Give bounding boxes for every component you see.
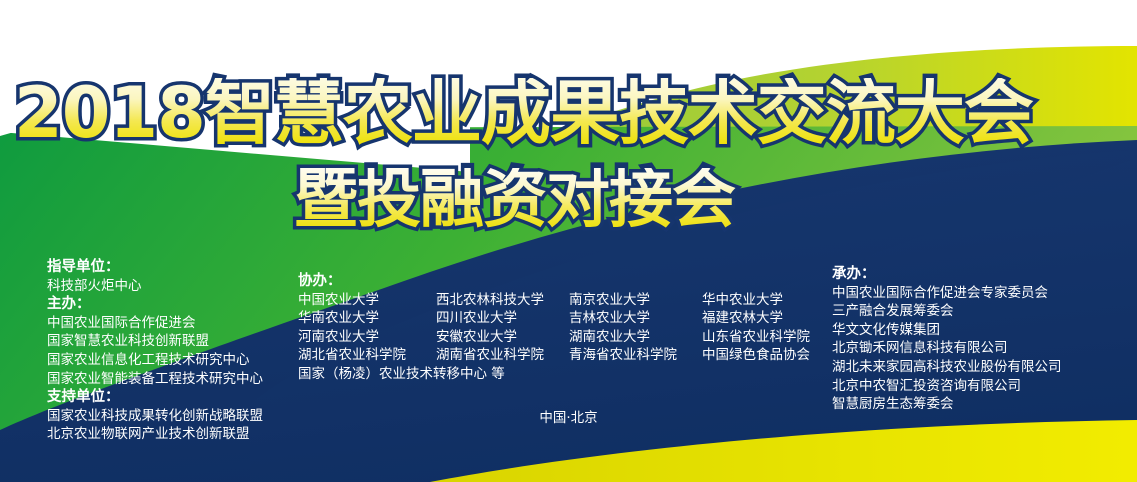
host-item: 国家智慧农业科技创新联盟 (47, 332, 263, 351)
undertaker-item: 中国农业国际合作促进会专家委员会 (832, 284, 1062, 303)
co-organizer-item: 中国绿色食品协会 (702, 346, 810, 365)
co-organizer-item: 中国农业大学 (298, 291, 436, 310)
undertaker-heading: 承办： (832, 265, 1062, 284)
co-organizer-item: 西北农林科技大学 (436, 291, 569, 310)
co-organizer-grid: 中国农业大学 西北农林科技大学 南京农业大学 华中农业大学 华南农业大学 四川农… (298, 291, 810, 384)
co-organizer-item: 华中农业大学 (702, 291, 810, 310)
host-item: 国家农业信息化工程技术研究中心 (47, 351, 263, 370)
co-organizers-column: 协办： 中国农业大学 西北农林科技大学 南京农业大学 华中农业大学 华南农业大学… (298, 272, 810, 384)
undertaker-item: 北京锄禾网信息科技有限公司 (832, 339, 1062, 358)
co-organizer-item: 华南农业大学 (298, 309, 436, 328)
co-organizer-item: 湖南农业大学 (569, 328, 702, 347)
host-heading: 主办： (47, 295, 263, 314)
co-organizer-heading: 协办： (298, 272, 810, 291)
support-unit-heading: 支持单位： (47, 388, 263, 407)
city-line: 中国·北京 (0, 406, 1137, 426)
co-organizer-item: 河南农业大学 (298, 328, 436, 347)
undertaker-item: 湖北未来家园高科技农业股份有限公司 (832, 358, 1062, 377)
support-unit-item: 北京农业物联网产业技术创新联盟 (47, 425, 263, 444)
co-organizer-item: 湖南省农业科学院 (436, 346, 569, 365)
co-organizer-item: 南京农业大学 (569, 291, 702, 310)
co-organizer-item: 安徽农业大学 (436, 328, 569, 347)
guidance-unit-item: 科技部火炬中心 (47, 277, 263, 296)
co-organizer-last-item: 国家（杨凌）农业技术转移中心 等 (298, 365, 810, 384)
host-item: 国家农业智能装备工程技术研究中心 (47, 370, 263, 389)
undertaker-item: 华文文化传媒集团 (832, 321, 1062, 340)
co-organizer-item: 吉林农业大学 (569, 309, 702, 328)
undertaker-item: 三产融合发展筹委会 (832, 302, 1062, 321)
host-item: 中国农业国际合作促进会 (47, 314, 263, 333)
conference-banner: 2018智慧农业成果技术交流大会 2018智慧农业成果技术交流大会 暨投融资对接… (0, 0, 1137, 482)
guidance-unit-heading: 指导单位： (47, 258, 263, 277)
co-organizer-item: 青海省农业科学院 (569, 346, 702, 365)
co-organizer-item: 福建农林大学 (702, 309, 810, 328)
undertaker-item: 北京中农智汇投资咨询有限公司 (832, 377, 1062, 396)
co-organizer-item: 山东省农业科学院 (702, 328, 810, 347)
co-organizer-item: 湖北省农业科学院 (298, 346, 436, 365)
co-organizer-item: 四川农业大学 (436, 309, 569, 328)
undertakers-column: 承办： 中国农业国际合作促进会专家委员会 三产融合发展筹委会 华文文化传媒集团 … (832, 265, 1062, 414)
